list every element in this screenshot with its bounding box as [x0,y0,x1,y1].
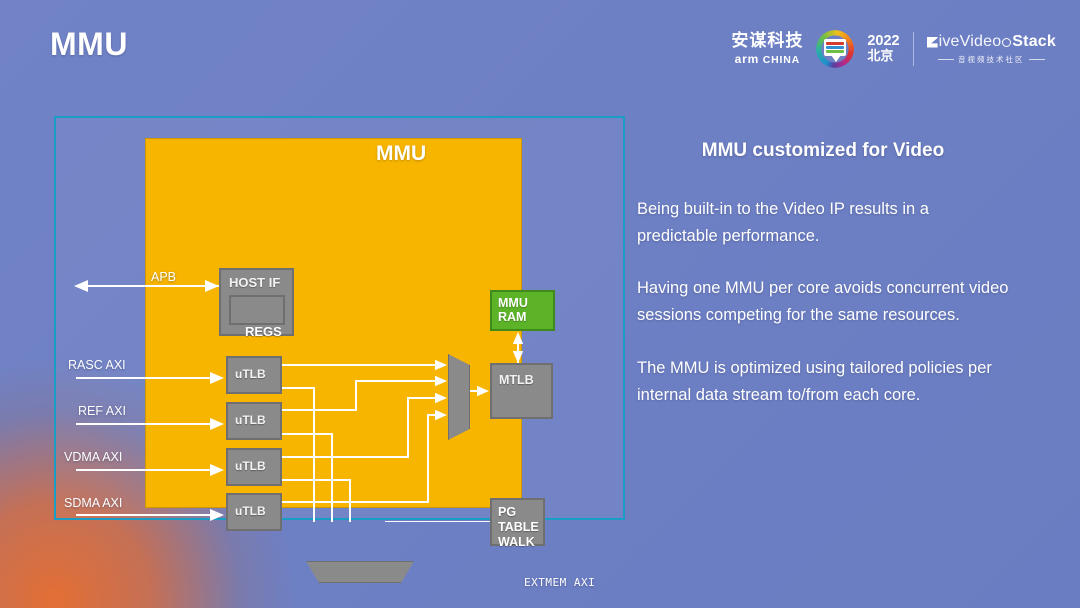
utlb-block-3: uTLB [226,493,282,531]
description-heading: MMU customized for Video [637,140,1009,162]
soc-amber-block [145,138,522,508]
host-if-inner-rect [229,295,285,325]
utlb-label-0: uTLB [235,367,266,381]
description-paragraph-1: Being built-in to the Video IP results i… [637,196,1009,249]
logo-group: 安谋科技 arm CHINA 2022 北京 [731,26,1056,72]
livevideostack-subtitle: 音视频技术社区 [938,54,1045,65]
livevideostack-wordmark: iveVideoStack [927,33,1056,51]
bubble-line-1 [826,42,844,45]
lvs-flag-icon [927,37,938,48]
livevideostack-logo: iveVideoStack 音视频技术社区 [927,33,1056,65]
description-paragraph-3: The MMU is optimized using tailored poli… [637,355,1009,408]
lvs-video: Video [960,33,1002,51]
mtlb-label: MTLB [499,373,534,387]
lvs-stack: Stack [1012,33,1056,51]
pg-table-walk-label: PG TABLE WALK [498,505,556,549]
bubble-line-2 [826,46,844,49]
utlb-label-2: uTLB [235,459,266,473]
mmu-ram-label-line1: MMU [498,296,553,310]
utlb-label-1: uTLB [235,413,266,427]
arbiter-mux-horizontal [306,561,414,583]
event-bubble-icon [816,30,854,68]
arbiter-mux-vertical [448,354,470,440]
slide-root: MMU 安谋科技 arm CHINA 2022 北 [0,0,1080,608]
description-column: MMU customized for Video Being built-in … [637,140,1009,408]
utlb-block-1: uTLB [226,402,282,440]
pg-table-walk-block: PG TABLE WALK [490,498,545,546]
lvs-dot-icon [1002,38,1011,47]
lvs-ive: ive [939,33,960,51]
arm-wordmark: arm [735,52,759,66]
description-paragraph-2: Having one MMU per core avoids concurren… [637,275,1009,328]
host-if-label: HOST IF [229,275,280,290]
port-label-rasc: RASC AXI [68,358,126,372]
port-label-vdma: VDMA AXI [64,450,122,464]
speech-bubble-tail-icon [831,55,841,62]
block-diagram-panel: MMU [54,116,625,520]
utlb-label-3: uTLB [235,504,266,518]
mmu-block-title: MMU [376,142,426,166]
event-city: 北京 [867,50,899,65]
event-year: 2022 [867,33,899,50]
port-label-sdma: SDMA AXI [64,496,122,510]
mmu-ram-label-line2: RAM [498,310,553,324]
speech-bubble-icon [824,39,846,56]
regs-label: REGS [245,325,281,339]
host-if-block: HOST IF REGS [219,268,294,336]
utlb-block-2: uTLB [226,448,282,486]
china-wordmark: CHINA [763,54,800,66]
port-label-apb: APB [151,270,176,284]
armchina-english-label: arm CHINA [735,53,800,66]
mmu-ram-block: MMU RAM [490,290,555,331]
utlb-block-0: uTLB [226,356,282,394]
mtlb-block: MTLB [490,363,553,419]
port-label-ref: REF AXI [78,404,126,418]
slide-header: MMU 安谋科技 arm CHINA 2022 北 [0,0,1080,100]
logo-divider [913,32,914,66]
port-label-extmem: EXTMEM AXI [524,576,595,589]
armchina-chinese-label: 安谋科技 [731,33,803,50]
page-title: MMU [50,26,128,63]
armchina-logo: 安谋科技 arm CHINA [731,33,803,66]
event-info: 2022 北京 [867,33,899,65]
bubble-line-3 [826,50,844,53]
